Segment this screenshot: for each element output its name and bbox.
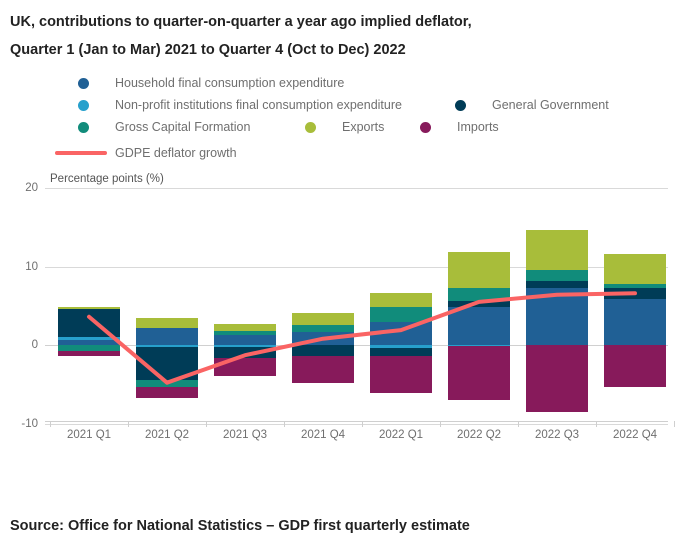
legend-label: Non-profit institutions final consumptio…	[115, 98, 402, 112]
x-axis-tick	[50, 421, 51, 427]
x-axis-label: 2022 Q1	[362, 429, 440, 441]
x-axis-tick	[284, 421, 285, 427]
legend-dot-swatch	[420, 122, 431, 133]
legend-item[interactable]: Imports	[420, 116, 499, 138]
legend-label: Gross Capital Formation	[115, 120, 250, 134]
x-axis-tick	[128, 421, 129, 427]
x-axis-tick	[362, 421, 363, 427]
x-axis-tick	[674, 421, 675, 427]
legend-item[interactable]: GDPE deflator growth	[55, 142, 237, 164]
gdpe-deflator-line	[0, 170, 691, 440]
legend-line-swatch	[55, 151, 107, 155]
x-axis-line	[45, 421, 668, 422]
x-axis-tick	[206, 421, 207, 427]
legend-label: Exports	[342, 120, 384, 134]
legend-item[interactable]: Gross Capital Formation	[78, 116, 250, 138]
legend-label: Household final consumption expenditure	[115, 76, 344, 90]
deflator-growth-line	[89, 293, 635, 382]
legend-label: GDPE deflator growth	[115, 146, 237, 160]
x-axis-label: 2022 Q2	[440, 429, 518, 441]
legend-dot-swatch	[305, 122, 316, 133]
legend-dot-swatch	[455, 100, 466, 111]
x-axis-label: 2021 Q2	[128, 429, 206, 441]
legend-dot-swatch	[78, 122, 89, 133]
legend-item[interactable]: Household final consumption expenditure	[78, 72, 344, 94]
chart-title-line-2: Quarter 1 (Jan to Mar) 2021 to Quarter 4…	[10, 36, 681, 64]
chart-legend: Household final consumption expenditureN…	[0, 72, 691, 168]
x-axis-tick	[518, 421, 519, 427]
legend-item[interactable]: General Government	[455, 94, 609, 116]
x-axis-label: 2022 Q3	[518, 429, 596, 441]
legend-dot-swatch	[78, 78, 89, 89]
legend-label: Imports	[457, 120, 499, 134]
chart-title-line-1: UK, contributions to quarter-on-quarter …	[10, 8, 681, 36]
x-axis-tick	[440, 421, 441, 427]
legend-dot-swatch	[78, 100, 89, 111]
legend-label: General Government	[492, 98, 609, 112]
plot-area: Percentage points (%) 20100-10	[0, 170, 691, 440]
x-axis-label: 2021 Q4	[284, 429, 362, 441]
x-axis-label: 2022 Q4	[596, 429, 674, 441]
legend-item[interactable]: Non-profit institutions final consumptio…	[78, 94, 402, 116]
x-axis-label: 2021 Q1	[50, 429, 128, 441]
chart-title-block: UK, contributions to quarter-on-quarter …	[0, 0, 691, 64]
x-axis: 2021 Q12021 Q22021 Q32021 Q42022 Q12022 …	[0, 421, 691, 461]
legend-item[interactable]: Exports	[305, 116, 384, 138]
x-axis-label: 2021 Q3	[206, 429, 284, 441]
x-axis-tick	[596, 421, 597, 427]
source-note: Source: Office for National Statistics –…	[10, 518, 470, 534]
